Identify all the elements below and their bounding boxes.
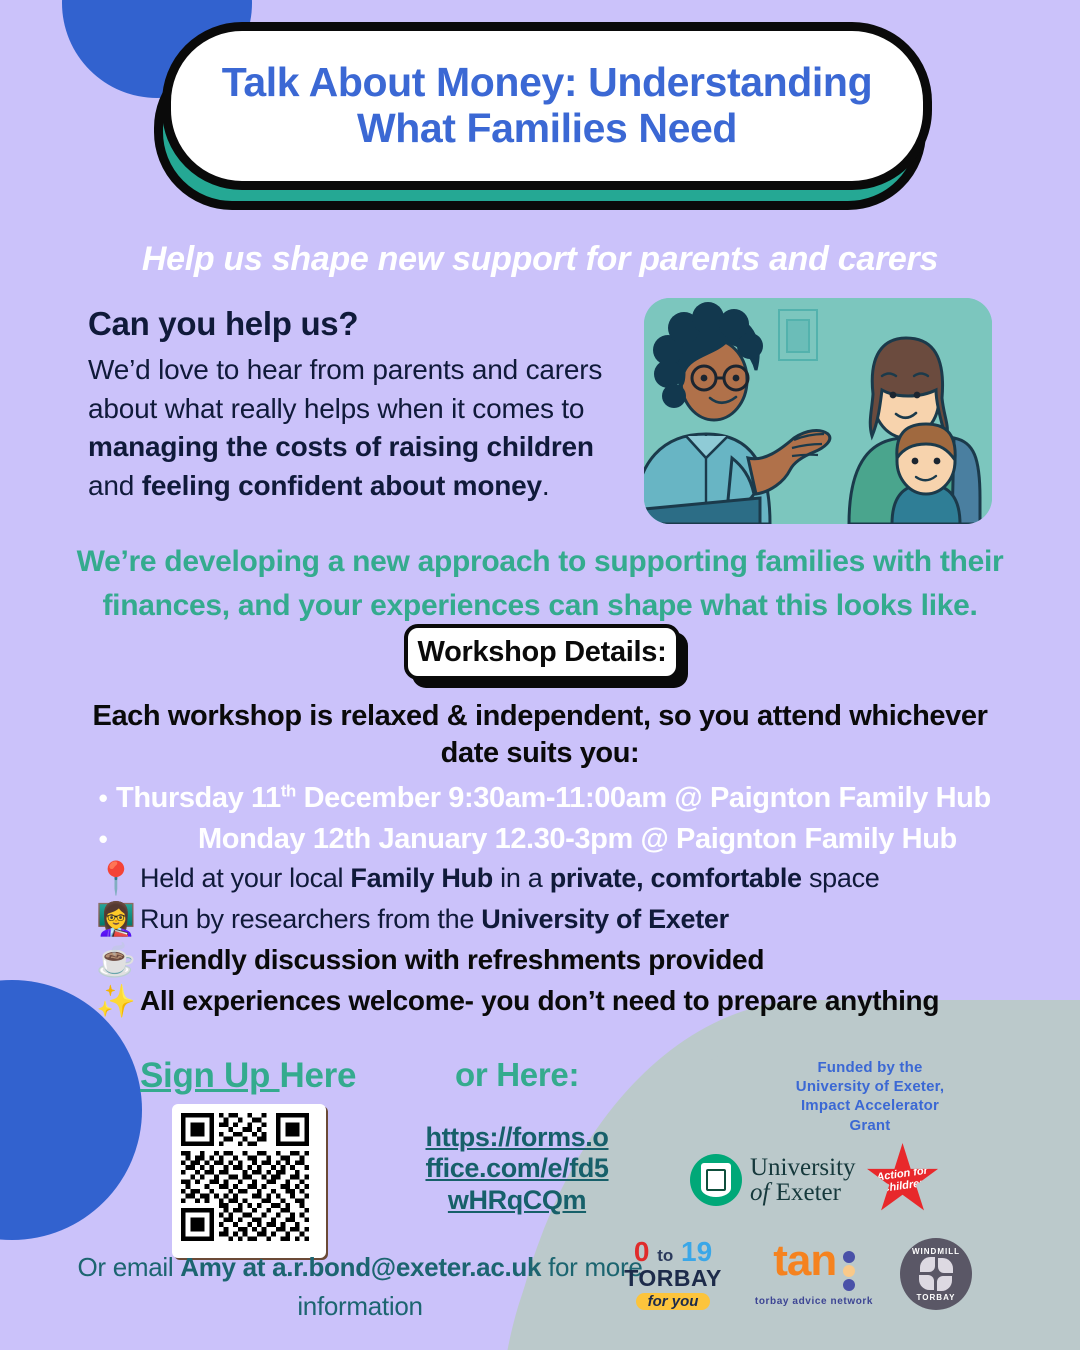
signup-url-link[interactable]: https://forms.office.com/e/fd5wHRqCQm xyxy=(424,1122,610,1216)
action-for-children-text: Action for Children xyxy=(875,1164,930,1195)
workshop-date-item: • Thursday 11th December 9:30am-11:00am … xyxy=(90,778,1030,819)
intro-text-1: We’d love to hear from parents and carer… xyxy=(88,354,602,424)
sign-up-heading-underlined: Sign Up xyxy=(140,1056,280,1095)
logos-row-primary: University of Exeter Action for Children xyxy=(690,1140,1020,1220)
torbay-nineteen: 19 xyxy=(681,1236,712,1267)
intro-heading: Can you help us? xyxy=(88,305,640,343)
poster-subtitle: Help us shape new support for parents an… xyxy=(0,240,1080,279)
windmill-bottom-text: TORBAY xyxy=(917,1293,956,1302)
sign-up-heading: Sign Up Here xyxy=(140,1056,356,1096)
bullet-icon: • xyxy=(90,780,116,817)
torbay-zero: 0 xyxy=(634,1236,650,1267)
sparkles-icon: ✨ xyxy=(92,985,140,1017)
workshop-date-text-1: Thursday 11th December 9:30am-11:00am @ … xyxy=(116,778,991,819)
0-to-19-torbay-logo: 0 to 19 TORBAY for you xyxy=(618,1238,728,1310)
feature-item-welcome: ✨ All experiences welcome- you don’t nee… xyxy=(92,985,1032,1017)
feature-item-researchers: 👩‍🏫 Run by researchers from the Universi… xyxy=(92,903,1032,935)
workshop-date-item: • Monday 12th January 12.30-3pm @ Paignt… xyxy=(90,819,1030,860)
funder-line-2: University of Exeter, xyxy=(796,1078,944,1095)
email-pre-text: Or email xyxy=(78,1252,181,1282)
university-of-exeter-logo: University of Exeter xyxy=(690,1154,856,1206)
date-rest-1: December 9:30am-11:00am @ Paignton Famil… xyxy=(296,782,991,814)
intro-text-3: . xyxy=(542,470,550,501)
workshop-features-list: 📍 Held at your local Family Hub in a pri… xyxy=(92,862,1032,1026)
exeter-wordmark: University of Exeter xyxy=(750,1155,856,1205)
feature-text-welcome: All experiences welcome- you don’t need … xyxy=(140,985,939,1017)
windmill-torbay-logo: WINDMILL TORBAY xyxy=(900,1238,972,1310)
location-pin-icon: 📍 xyxy=(92,862,140,894)
contact-email-line: Or email Amy at a.r.bond@exeter.ac.uk fo… xyxy=(60,1248,660,1326)
feature-text-location: Held at your local Family Hub in a priva… xyxy=(140,863,880,894)
sign-up-heading-rest: Here xyxy=(280,1056,357,1095)
action-for-children-logo: Action for Children xyxy=(866,1143,940,1217)
coffee-cup-icon: ☕ xyxy=(92,944,140,976)
intro-bold-1: managing the costs of raising children xyxy=(88,431,594,462)
title-banner-white-layer: Talk About Money: Understanding What Fam… xyxy=(162,22,932,190)
workshop-date-text-2: Monday 12th January 12.30-3pm @ Paignton… xyxy=(198,819,957,860)
exeter-crest-icon xyxy=(690,1154,742,1206)
intro-bold-2: feeling confident about money xyxy=(142,470,542,501)
workshop-details-badge-box: Workshop Details: xyxy=(404,624,680,680)
date-ordinal-1: th xyxy=(281,781,296,800)
workshop-relaxed-note: Each workshop is relaxed & independent, … xyxy=(90,698,990,772)
feature-item-refreshments: ☕ Friendly discussion with refreshments … xyxy=(92,944,1032,976)
torbay-advice-network-logo: tan torbay advice network xyxy=(744,1241,884,1307)
or-here-label: or Here: xyxy=(455,1056,579,1094)
approach-paragraph: We’re developing a new approach to suppo… xyxy=(70,540,1010,627)
tan-wordmark: tan xyxy=(773,1241,836,1281)
exeter-wordmark-exeter: Exeter xyxy=(769,1179,840,1206)
funder-line-1: Funded by the xyxy=(817,1059,922,1076)
torbay-to: to xyxy=(657,1246,673,1265)
title-banner: Talk About Money: Understanding What Fam… xyxy=(146,8,936,216)
signup-qr-code[interactable] xyxy=(172,1104,326,1258)
logos-row-secondary: 0 to 19 TORBAY for you tan torbay advice… xyxy=(618,1228,1038,1320)
date-day-1: Thursday 11 xyxy=(116,782,281,814)
torbay-tagline: for you xyxy=(636,1293,711,1310)
poster-canvas: Talk About Money: Understanding What Fam… xyxy=(0,0,1080,1350)
family-conversation-illustration xyxy=(644,298,992,524)
poster-title: Talk About Money: Understanding What Fam… xyxy=(196,60,898,152)
bullet-icon: • xyxy=(90,821,116,858)
windmill-top-text: WINDMILL xyxy=(912,1247,960,1256)
intro-paragraph: We’d love to hear from parents and carer… xyxy=(88,351,640,506)
feature-text-refreshments: Friendly discussion with refreshments pr… xyxy=(140,944,764,976)
torbay-wordmark: TORBAY xyxy=(618,1267,728,1290)
windmill-blades-icon xyxy=(919,1257,953,1291)
tan-subtitle: torbay advice network xyxy=(744,1296,884,1307)
title-line-1: Talk About Money: Understanding xyxy=(222,59,872,105)
intro-text-2: and xyxy=(88,470,142,501)
exeter-wordmark-line-1: University xyxy=(750,1155,856,1180)
exeter-wordmark-of: of xyxy=(750,1179,769,1206)
intro-block: Can you help us? We’d love to hear from … xyxy=(88,305,640,506)
workshop-dates-list: • Thursday 11th December 9:30am-11:00am … xyxy=(90,778,1030,860)
contact-email-address[interactable]: Amy at a.r.bond@exeter.ac.uk xyxy=(180,1252,541,1282)
title-line-2: What Families Need xyxy=(357,105,737,151)
feature-text-researchers: Run by researchers from the University o… xyxy=(140,904,729,935)
workshop-details-badge: Workshop Details: xyxy=(404,624,694,688)
funder-statement: Funded by the University of Exeter, Impa… xyxy=(760,1058,980,1135)
funder-line-3: Impact Accelerator xyxy=(801,1097,939,1114)
workshop-details-label: Workshop Details: xyxy=(418,636,667,669)
tan-dots-icon xyxy=(843,1249,855,1293)
funder-line-4: Grant xyxy=(849,1117,890,1134)
teacher-icon: 👩‍🏫 xyxy=(92,903,140,935)
feature-item-location: 📍 Held at your local Family Hub in a pri… xyxy=(92,862,1032,894)
